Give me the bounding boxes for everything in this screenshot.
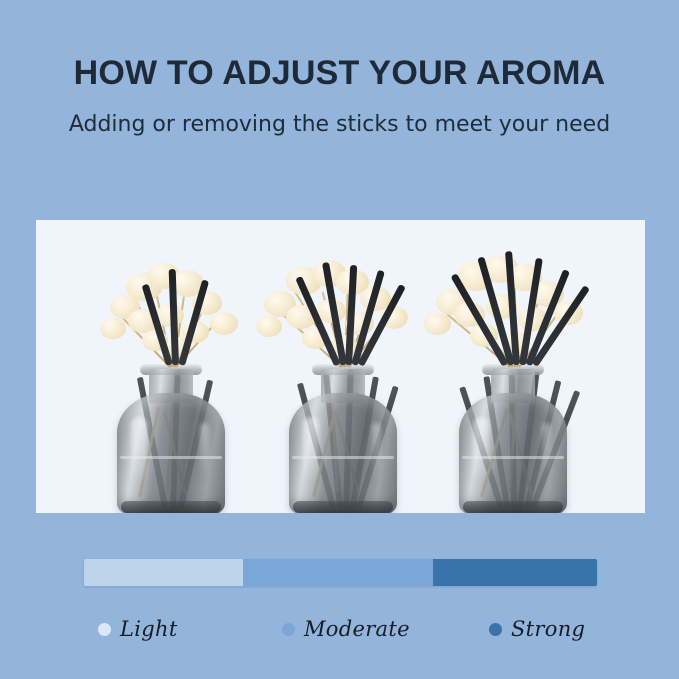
glass-highlight <box>303 417 319 481</box>
legend-item-strong: Strong <box>489 612 585 646</box>
legend-dot-icon <box>489 623 502 636</box>
glass-highlight <box>473 417 489 481</box>
product-photo-panel <box>36 220 645 513</box>
page-title: HOW TO ADJUST YOUR AROMA <box>0 54 679 93</box>
dried-flower-bloom <box>210 312 238 335</box>
glass-highlight <box>131 417 147 481</box>
legend-dot-icon <box>282 623 295 636</box>
legend-label: Light <box>120 617 178 641</box>
legend-dot-icon <box>98 623 111 636</box>
aroma-infographic-poster: HOW TO ADJUST YOUR AROMA Adding or remov… <box>0 0 679 679</box>
bottle-base <box>121 501 221 513</box>
legend-item-moderate: Moderate <box>282 612 410 646</box>
intensity-bar-segment-strong <box>433 559 597 586</box>
intensity-bar-segment-moderate <box>243 559 433 586</box>
legend-label: Strong <box>511 617 585 641</box>
glass-bottle <box>289 363 397 513</box>
glass-highlight <box>200 423 209 475</box>
intensity-legend: Light Moderate Strong <box>84 612 597 646</box>
glass-highlight <box>372 423 381 475</box>
dried-flower-bloom <box>424 313 451 335</box>
product-photo-inner <box>36 220 645 513</box>
legend-item-light: Light <box>98 612 178 646</box>
legend-label: Moderate <box>304 617 410 641</box>
bottle-base <box>463 501 563 513</box>
glass-highlight <box>542 423 551 475</box>
bottle-base <box>293 501 393 513</box>
glass-bottle <box>117 363 225 513</box>
intensity-bar <box>84 559 597 586</box>
page-subtitle: Adding or removing the sticks to meet yo… <box>0 112 679 137</box>
dried-flower-bloom <box>256 316 282 337</box>
diffuser-stage <box>408 220 618 513</box>
intensity-bar-segment-light <box>84 559 243 586</box>
glass-bottle <box>459 363 567 513</box>
dried-flower-bloom <box>100 318 126 339</box>
reed-diffuser-strong <box>408 220 618 513</box>
